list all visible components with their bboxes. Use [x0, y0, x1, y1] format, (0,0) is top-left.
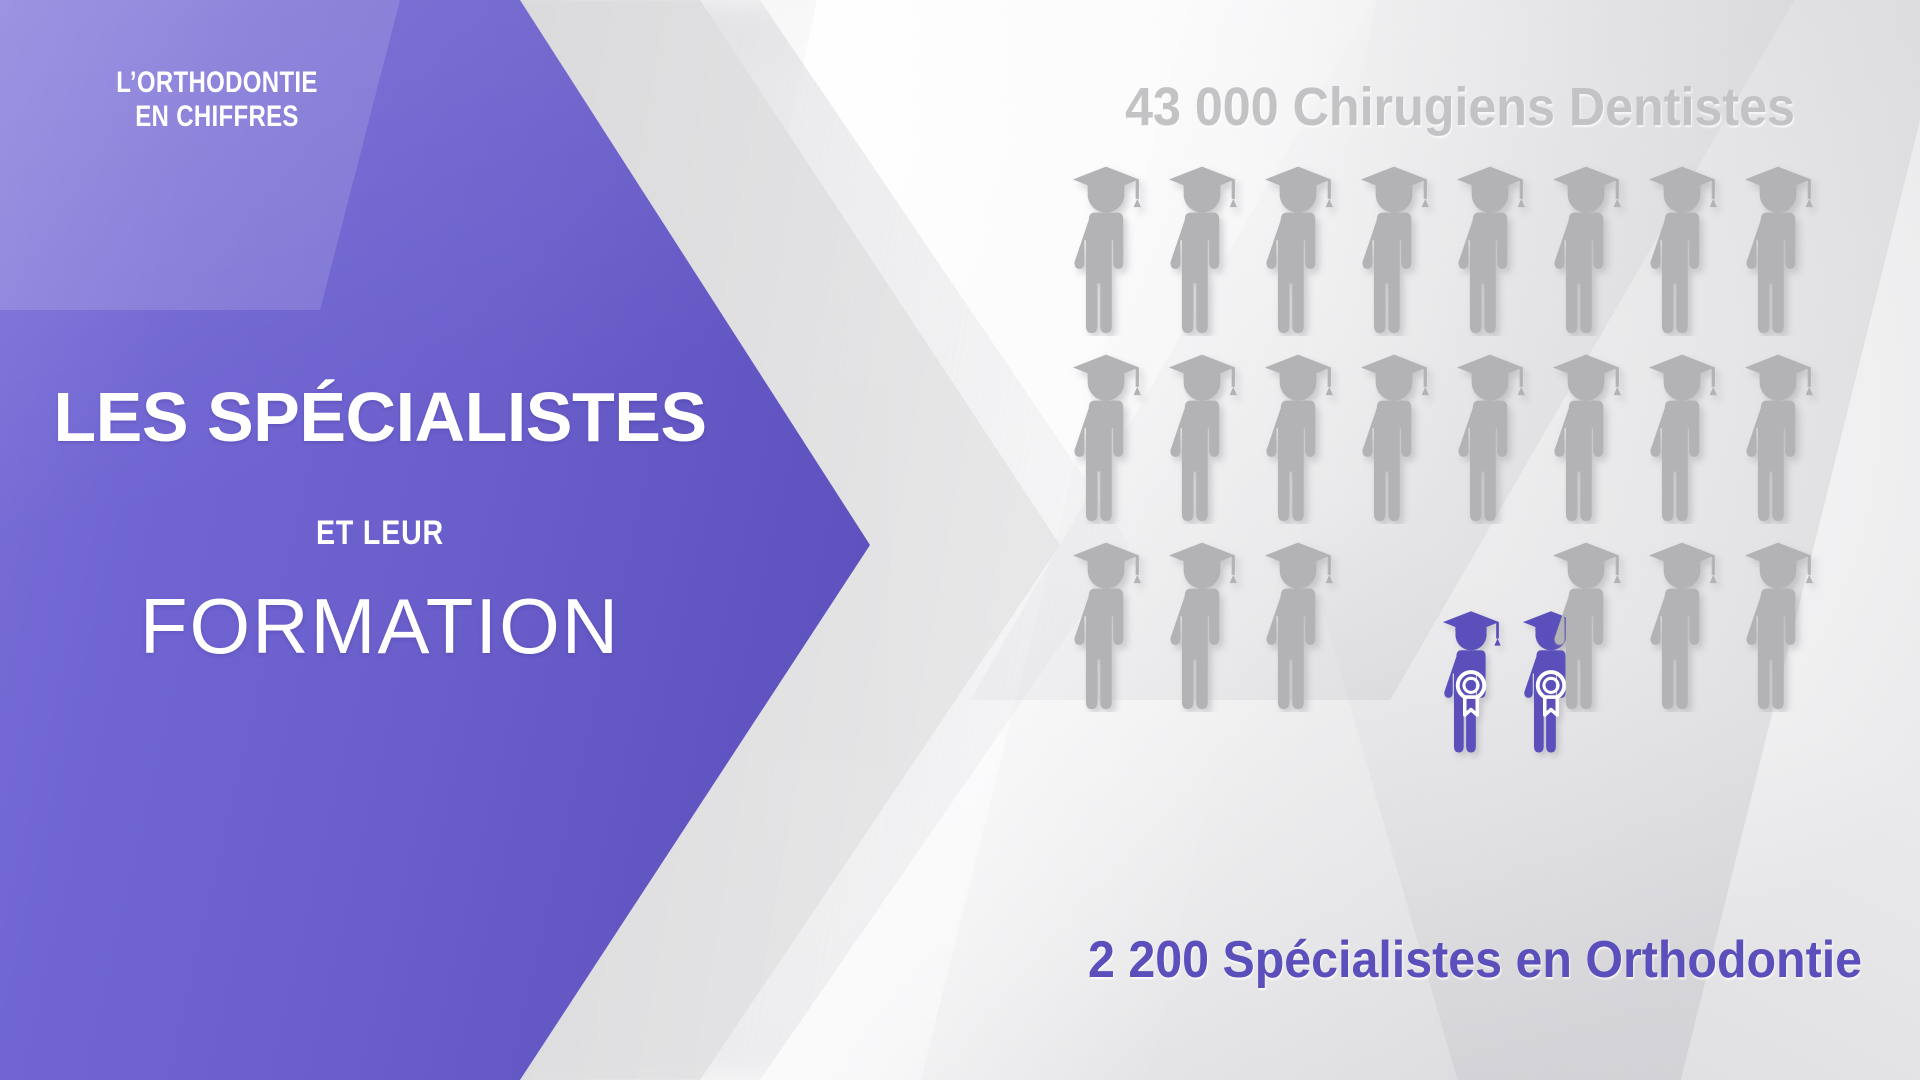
pictogram-dentist	[1636, 338, 1728, 524]
person-figure-icon	[1252, 526, 1344, 712]
figure-body	[1458, 213, 1507, 334]
figure-body	[1074, 213, 1123, 334]
pictogram-dentist	[1540, 150, 1632, 336]
figure-body	[1554, 213, 1603, 334]
pictogram-chart: 43 000 Chirugiens Dentistes	[1060, 0, 1920, 1080]
chart-caption: 2 200 Spécialistes en Orthodontie	[1088, 930, 1832, 990]
pictogram-dentist	[1540, 338, 1632, 524]
figure-body	[1554, 401, 1603, 522]
pictogram-row	[1060, 526, 1860, 714]
person-figure-icon	[1432, 588, 1510, 764]
person-figure-icon	[1252, 150, 1344, 336]
person-figure-icon	[1156, 526, 1248, 712]
infographic-slide: L’ORTHODONTIE EN CHIFFRES LES SPÉCIALIST…	[0, 0, 1920, 1080]
pictogram-row	[1060, 150, 1860, 338]
person-figure-icon	[1732, 526, 1824, 712]
pictogram-dentist	[1444, 150, 1536, 336]
figure-body	[1458, 401, 1507, 522]
pictogram-dentist	[1732, 150, 1824, 336]
pictogram-dentist	[1348, 338, 1440, 524]
pictogram-dentist	[1348, 150, 1440, 336]
pictogram-dentist	[1636, 526, 1728, 712]
person-figure-icon	[1540, 338, 1632, 524]
figure-body	[1746, 213, 1795, 334]
pictogram-dentist	[1156, 526, 1248, 712]
pictogram-specialist	[1432, 588, 1510, 764]
pictogram-dentist	[1252, 526, 1344, 712]
figure-body	[1170, 589, 1219, 710]
person-figure-icon	[1444, 338, 1536, 524]
person-figure-icon	[1732, 150, 1824, 336]
person-figure-icon	[1636, 526, 1728, 712]
person-figure-icon	[1540, 150, 1632, 336]
pictogram-dentist	[1252, 150, 1344, 336]
figure-body	[1362, 401, 1411, 522]
pictogram-dentist	[1156, 338, 1248, 524]
figure-body	[1362, 213, 1411, 334]
figure-body	[1266, 213, 1315, 334]
figure-body	[1266, 401, 1315, 522]
person-figure-icon	[1060, 526, 1152, 712]
figure-body	[1170, 401, 1219, 522]
kicker-line-1: L’ORTHODONTIE	[85, 66, 349, 100]
page-title: LES SPÉCIALISTES	[0, 382, 760, 452]
person-figure-icon	[1540, 526, 1632, 712]
pictogram-dentist	[1060, 338, 1152, 524]
person-figure-icon	[1252, 338, 1344, 524]
pictogram-dentist	[1060, 526, 1152, 712]
left-title-block: LES SPÉCIALISTES ET LEUR FORMATION	[0, 382, 760, 665]
chart-title: 43 000 Chirugiens Dentistes	[1088, 76, 1832, 138]
person-figure-icon	[1060, 338, 1152, 524]
pictogram-dentist	[1444, 338, 1536, 524]
pictogram-row	[1060, 338, 1860, 526]
pictogram-dentist	[1060, 150, 1152, 336]
person-figure-icon	[1444, 150, 1536, 336]
person-figure-icon	[1636, 150, 1728, 336]
pictogram-dentist	[1732, 526, 1824, 712]
person-figure-icon	[1156, 150, 1248, 336]
figure-body	[1650, 213, 1699, 334]
person-figure-icon	[1060, 150, 1152, 336]
pictogram-dentist	[1156, 150, 1248, 336]
title-connector: ET LEUR	[61, 514, 699, 553]
kicker-line-2: EN CHIFFRES	[85, 100, 349, 134]
figure-body	[1074, 401, 1123, 522]
title-emphasis: FORMATION	[0, 587, 760, 665]
pictogram-dentist	[1252, 338, 1344, 524]
kicker-heading: L’ORTHODONTIE EN CHIFFRES	[52, 66, 382, 134]
figure-body	[1746, 589, 1795, 710]
figure-body	[1074, 589, 1123, 710]
figure-body	[1650, 401, 1699, 522]
pictogram-dentist	[1636, 150, 1728, 336]
person-figure-icon	[1636, 338, 1728, 524]
person-figure-icon	[1348, 338, 1440, 524]
person-figure-icon	[1348, 150, 1440, 336]
person-figure-icon	[1156, 338, 1248, 524]
figure-body	[1746, 401, 1795, 522]
figure-body	[1266, 589, 1315, 710]
pictogram-dentist	[1732, 338, 1824, 524]
person-figure-icon	[1732, 338, 1824, 524]
figure-body	[1650, 589, 1699, 710]
pictogram-grid	[1060, 150, 1860, 714]
figure-body	[1170, 213, 1219, 334]
pictogram-dentist	[1540, 526, 1632, 712]
chevron-light-band	[0, 0, 430, 310]
figure-body	[1554, 589, 1603, 710]
